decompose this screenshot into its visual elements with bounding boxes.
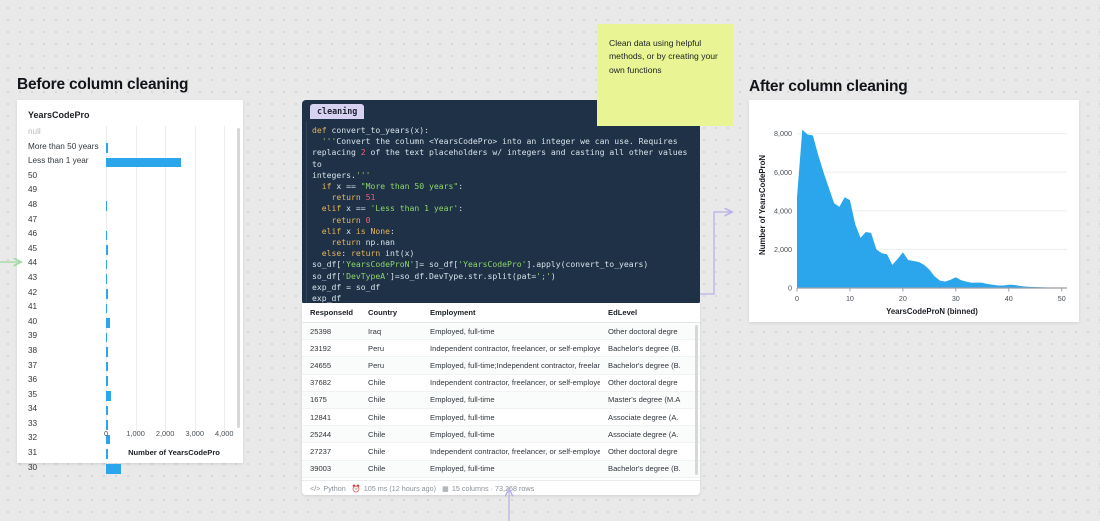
before-chart-row: 47	[17, 214, 243, 229]
table-row[interactable]: 27237ChileIndependent contractor, freela…	[302, 443, 700, 460]
table-column-header[interactable]: Country	[360, 303, 422, 323]
table-cell: Chile	[360, 374, 422, 391]
table-row[interactable]: 12841ChileEmployed, full-timeAssociate d…	[302, 408, 700, 425]
before-chart-category-label: 45	[28, 244, 37, 253]
before-chart-row: 34	[17, 403, 243, 418]
before-chart-row: 46	[17, 228, 243, 243]
table-cell: Other doctoral degre	[600, 374, 700, 391]
before-chart-category-label: More than 50 years	[28, 142, 99, 151]
table-cell: 37682	[302, 374, 360, 391]
table-cell: Associate degree (A.	[600, 408, 700, 425]
before-chart-row: 45	[17, 243, 243, 258]
before-chart-row: 42	[17, 287, 243, 302]
table-cell: Employed, full-time	[422, 460, 600, 477]
before-chart-row: 30	[17, 462, 243, 477]
before-chart-xtick: 3,000	[185, 429, 204, 438]
table-column-header[interactable]: Employment	[422, 303, 600, 323]
before-chart-row: Less than 1 year	[17, 155, 243, 170]
after-chart-ylabel: Number of YearsCodeProN	[758, 155, 767, 255]
code-cell[interactable]: cleaning def convert_to_years(x): '''Con…	[302, 100, 700, 305]
before-chart-bar[interactable]	[106, 143, 108, 153]
after-chart-xtick: 40	[1005, 294, 1013, 303]
before-chart-row: null	[17, 126, 243, 141]
table-status-bar: </> Python ⏰ 105 ms (12 hours ago) ▦ 15 …	[302, 480, 700, 495]
before-chart-bar[interactable]	[106, 333, 107, 343]
before-chart-row: 40	[17, 316, 243, 331]
whiteboard-canvas: Before column cleaning YearsCodePro null…	[0, 0, 1100, 521]
before-chart-row: 49	[17, 184, 243, 199]
before-chart-row: 48	[17, 199, 243, 214]
table-header-row: ResponseIdCountryEmploymentEdLevel	[302, 303, 700, 323]
table-row[interactable]: 37682ChileIndependent contractor, freela…	[302, 374, 700, 391]
before-chart-category-label: 40	[28, 317, 37, 326]
before-chart-category-label: 37	[28, 361, 37, 370]
table-cell: Employed, full-time	[422, 391, 600, 408]
table-cell: Bachelor's degree (B.	[600, 357, 700, 374]
after-chart-xtick: 10	[846, 294, 854, 303]
code-line: return 51	[312, 192, 694, 203]
before-chart-scrollbar[interactable]	[237, 128, 240, 428]
after-chart-ytick: 6,000	[774, 168, 792, 177]
table-cell: 23192	[302, 340, 360, 357]
before-chart-bar[interactable]	[106, 406, 108, 416]
table-cell: Employed, full-time;Independent contract…	[422, 357, 600, 374]
before-chart-plot: nullMore than 50 yearsLess than 1 year50…	[17, 126, 243, 463]
table-scrollbar[interactable]	[695, 325, 698, 475]
code-line: if x == "More than 50 years":	[312, 181, 694, 192]
before-chart-bar[interactable]	[106, 245, 108, 255]
before-chart-category-label: 47	[28, 215, 37, 224]
before-chart-category-label: 32	[28, 433, 37, 442]
before-chart-xtick: 2,000	[156, 429, 175, 438]
after-chart-xtick: 30	[952, 294, 960, 303]
before-chart-category-label: 42	[28, 288, 37, 297]
table-cell: Employed, full-time	[422, 408, 600, 425]
before-chart-xtick: 4,000	[215, 429, 234, 438]
table-cell: 39003	[302, 460, 360, 477]
code-line: exp_df = so_df	[312, 282, 694, 293]
status-timing: ⏰ 105 ms (12 hours ago)	[352, 484, 436, 493]
sticky-note[interactable]: Clean data using helpful methods, or by …	[597, 24, 733, 126]
table-cell: Master's degree (M.A	[600, 391, 700, 408]
before-chart-row: 39	[17, 330, 243, 345]
code-cell-source[interactable]: def convert_to_years(x): '''Convert the …	[302, 121, 700, 305]
after-chart-ytick: 4,000	[774, 206, 792, 215]
code-line: replacing 2 of the text placeholders w/ …	[312, 147, 694, 169]
table-row[interactable]: 1675ChileEmployed, full-timeMaster's deg…	[302, 391, 700, 408]
before-chart-category-label: null	[28, 127, 41, 136]
status-language: </> Python	[310, 484, 346, 493]
before-chart-category-label: 43	[28, 273, 37, 282]
table-row[interactable]: 39003ChileEmployed, full-timeBachelor's …	[302, 460, 700, 477]
before-chart-category-label: 31	[28, 448, 37, 457]
before-chart-category-label: 41	[28, 302, 37, 311]
table-row[interactable]: 25398IraqEmployed, full-timeOther doctor…	[302, 323, 700, 340]
table-cell: Bachelor's degree (B.	[600, 460, 700, 477]
table-cell: Employed, full-time	[422, 323, 600, 340]
table-cell: Chile	[360, 426, 422, 443]
table-row[interactable]: 25244ChileEmployed, full-timeAssociate d…	[302, 426, 700, 443]
before-chart-category-label: 44	[28, 258, 37, 267]
code-line: else: return int(x)	[312, 248, 694, 259]
before-chart-row: 44	[17, 257, 243, 272]
table-cell: Peru	[360, 357, 422, 374]
before-chart-row: 36	[17, 374, 243, 389]
before-chart-category-label: 36	[28, 375, 37, 384]
table-cell: Iraq	[360, 323, 422, 340]
code-line: so_df['YearsCodeProN']= so_df['YearsCode…	[312, 259, 694, 270]
before-chart-bar[interactable]	[106, 318, 110, 328]
code-line: return np.nan	[312, 237, 694, 248]
table-cell: 25244	[302, 426, 360, 443]
table-cell: 25398	[302, 323, 360, 340]
table-cell: 27237	[302, 443, 360, 460]
before-chart-category-label: 38	[28, 346, 37, 355]
table-cell: Peru	[360, 340, 422, 357]
before-chart-title: YearsCodePro	[28, 110, 90, 120]
after-chart-ytick: 2,000	[774, 245, 792, 254]
before-chart-bar[interactable]	[106, 464, 121, 474]
before-chart-bar[interactable]	[106, 347, 108, 357]
code-line: integers.'''	[312, 170, 694, 181]
before-chart-row: More than 50 years	[17, 141, 243, 156]
before-chart-bar[interactable]	[106, 201, 107, 211]
before-chart-bar[interactable]	[106, 274, 107, 284]
before-chart-xtick: 1,000	[126, 429, 145, 438]
before-chart-card: YearsCodePro nullMore than 50 yearsLess …	[17, 100, 243, 463]
before-chart-bar[interactable]	[106, 158, 181, 168]
table-column-header[interactable]: EdLevel	[600, 303, 700, 323]
before-chart-xaxis: 01,0002,0003,0004,000	[106, 429, 242, 441]
after-chart-xlabel: YearsCodeProN (binned)	[886, 307, 978, 316]
before-chart-row: 43	[17, 272, 243, 287]
code-line: def convert_to_years(x):	[312, 125, 694, 136]
before-chart-rows: nullMore than 50 yearsLess than 1 year50…	[17, 126, 243, 476]
before-chart-bar[interactable]	[106, 304, 107, 314]
status-shape: ▦ 15 columns · 73,268 rows	[442, 484, 534, 493]
table-column-header[interactable]: ResponseId	[302, 303, 360, 323]
table-cell: Chile	[360, 460, 422, 477]
before-chart-row: 38	[17, 345, 243, 360]
after-area-chart: 02,0004,0006,0008,00001020304050YearsCod…	[749, 100, 1079, 322]
after-chart-xtick: 0	[795, 294, 799, 303]
before-chart-category-label: 35	[28, 390, 37, 399]
table-cell: 12841	[302, 408, 360, 425]
before-chart-category-label: 50	[28, 171, 37, 180]
table-cell: Chile	[360, 443, 422, 460]
table-cell: Independent contractor, freelancer, or s…	[422, 340, 600, 357]
after-chart-ytick: 0	[788, 284, 792, 293]
before-chart-row: 35	[17, 389, 243, 404]
before-chart-category-label: 39	[28, 331, 37, 340]
table-cell: Chile	[360, 391, 422, 408]
before-chart-xlabel: Number of YearsCodePro	[106, 448, 242, 457]
code-icon: </>	[310, 484, 320, 493]
code-line: elif x == 'Less than 1 year':	[312, 203, 694, 214]
before-chart-bar[interactable]	[106, 362, 108, 372]
before-chart-bar[interactable]	[106, 231, 107, 241]
before-chart-bar[interactable]	[106, 376, 108, 386]
table-cell: 24655	[302, 357, 360, 374]
table-row[interactable]: 23192PeruIndependent contractor, freelan…	[302, 340, 700, 357]
before-chart-bar[interactable]	[106, 289, 108, 299]
after-chart-ytick: 8,000	[774, 129, 792, 138]
before-chart-category-label: 49	[28, 185, 37, 194]
after-chart-card: 02,0004,0006,0008,00001020304050YearsCod…	[749, 100, 1079, 322]
data-table-card: ResponseIdCountryEmploymentEdLevel 25398…	[302, 303, 700, 495]
table-cell: Independent contractor, freelancer, or s…	[422, 443, 600, 460]
after-chart-area[interactable]	[797, 130, 1067, 288]
before-chart-row: 37	[17, 360, 243, 375]
after-chart-xtick: 50	[1058, 294, 1066, 303]
before-chart-xtick: 0	[104, 429, 108, 438]
table-cell: 1675	[302, 391, 360, 408]
table-cell: Other doctoral degre	[600, 443, 700, 460]
before-chart-bar[interactable]	[106, 391, 111, 401]
before-chart-bar[interactable]	[106, 260, 107, 270]
clock-icon: ⏰	[352, 484, 361, 493]
before-chart-category-label: 34	[28, 404, 37, 413]
table-row[interactable]: 24655PeruEmployed, full-time;Independent…	[302, 357, 700, 374]
table-cell: Bachelor's degree (B.	[600, 340, 700, 357]
before-section-title: Before column cleaning	[17, 76, 188, 94]
after-chart-xtick: 20	[899, 294, 907, 303]
before-chart-category-label: 48	[28, 200, 37, 209]
before-chart-category-label: 30	[28, 463, 37, 472]
table-cell: Associate degree (A.	[600, 426, 700, 443]
table-cell: Employed, full-time	[422, 426, 600, 443]
code-cell-tab[interactable]: cleaning	[310, 104, 364, 119]
data-table: ResponseIdCountryEmploymentEdLevel 25398…	[302, 303, 700, 495]
table-cell: Chile	[360, 408, 422, 425]
table-icon: ▦	[442, 484, 449, 493]
code-line: '''Convert the column <YearsCodePro> int…	[312, 136, 694, 147]
table-body: 25398IraqEmployed, full-timeOther doctor…	[302, 323, 700, 496]
after-section-title: After column cleaning	[749, 78, 908, 96]
before-chart-row: 50	[17, 170, 243, 185]
table-cell: Other doctoral degre	[600, 323, 700, 340]
code-line: return 0	[312, 215, 694, 226]
code-line: so_df['DevTypeA']=so_df.DevType.str.spli…	[312, 271, 694, 282]
before-chart-category-label: 33	[28, 419, 37, 428]
before-chart-category-label: Less than 1 year	[28, 156, 89, 165]
connector-code-to-chart	[700, 212, 731, 294]
table-cell: Independent contractor, freelancer, or s…	[422, 374, 600, 391]
before-chart-category-label: 46	[28, 229, 37, 238]
before-chart-row: 41	[17, 301, 243, 316]
code-line: elif x is None:	[312, 226, 694, 237]
